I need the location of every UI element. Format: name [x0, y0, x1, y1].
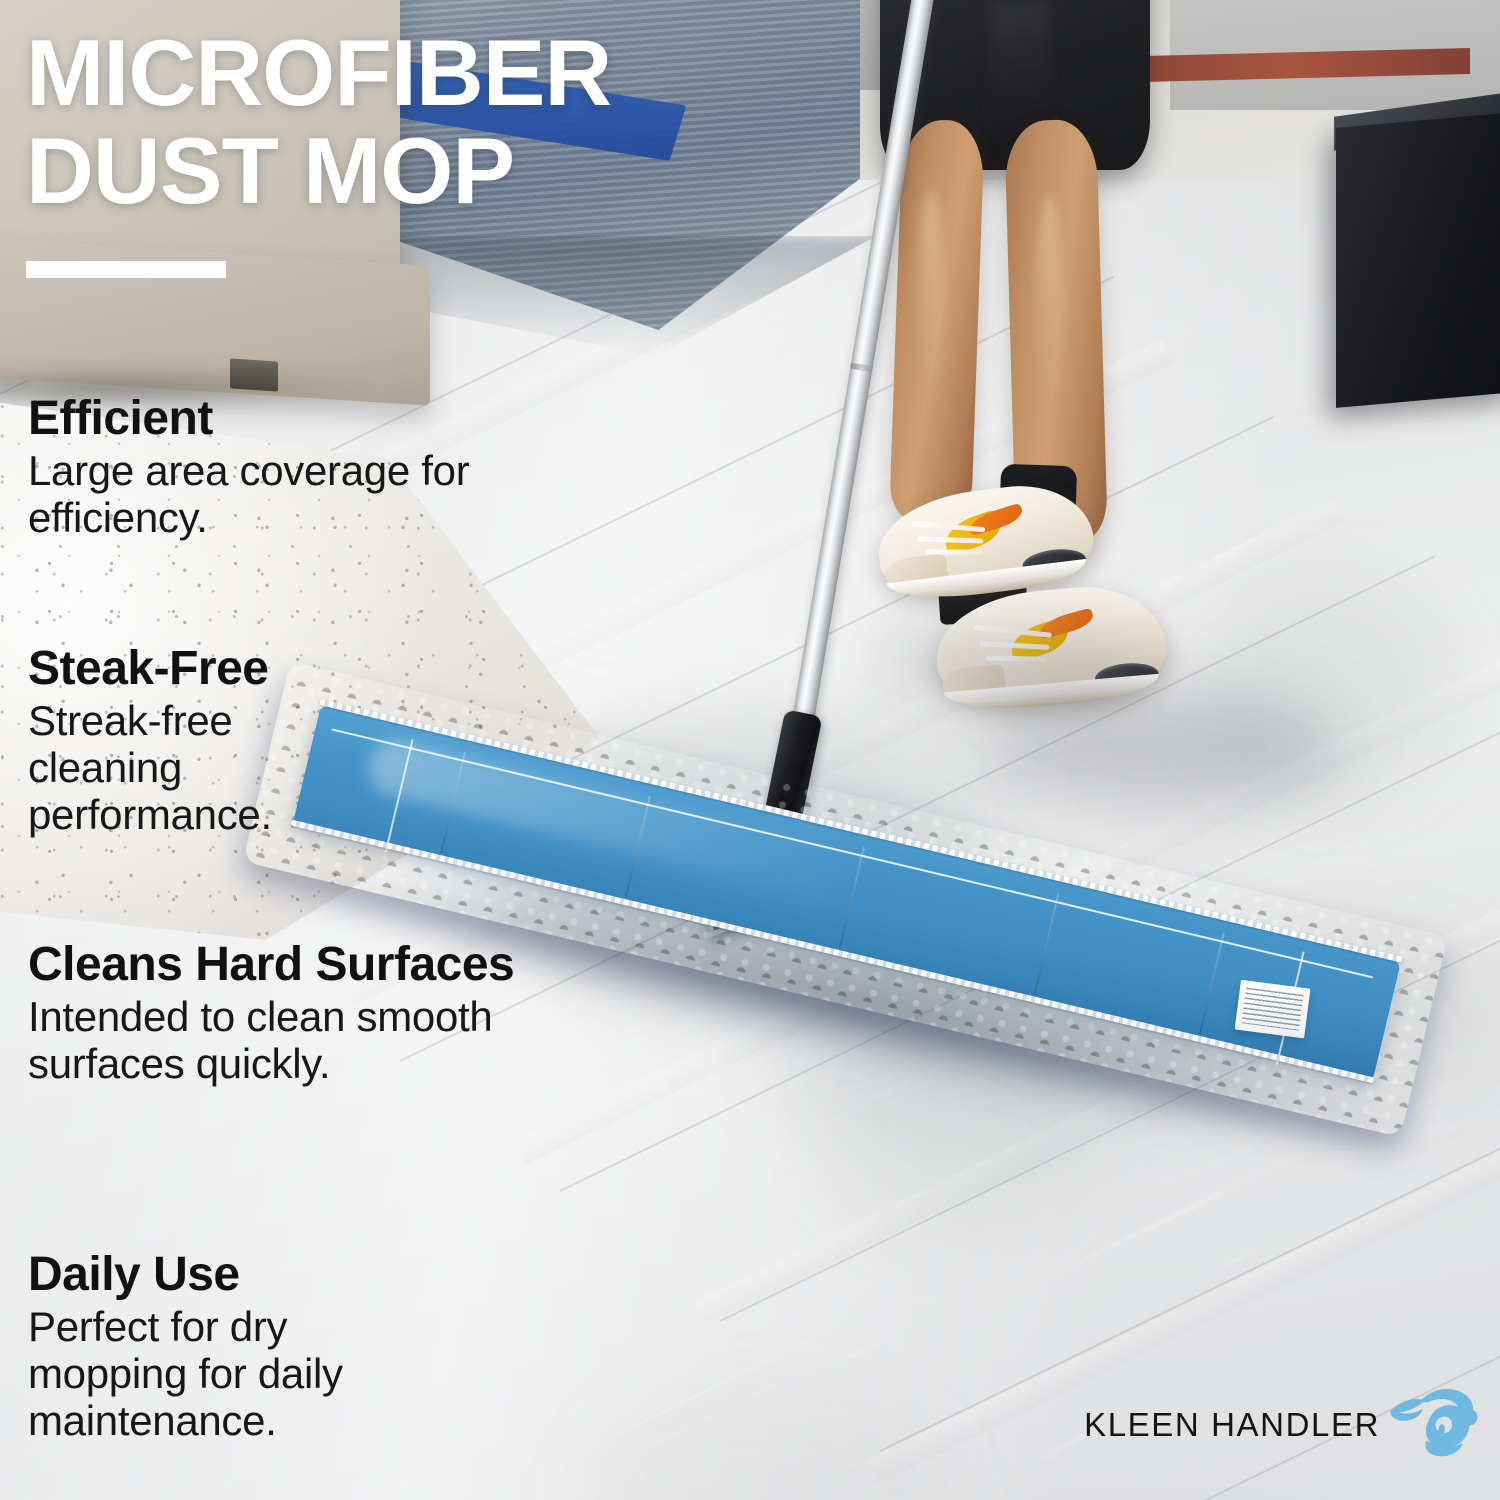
- feature-body: Streak-free cleaning performance.: [28, 697, 358, 838]
- feature-block-efficient: Efficient Large area coverage for effici…: [28, 394, 498, 541]
- brand-logo: KLEEN HANDLER: [1084, 1384, 1478, 1466]
- feature-block-cleans-hard-surfaces: Cleans Hard Surfaces Intended to clean s…: [28, 940, 588, 1087]
- feature-block-daily-use: Daily Use Perfect for dry mopping for da…: [28, 1250, 428, 1444]
- product-infographic: MICROFIBER DUST MOP Efficient Large area…: [0, 0, 1500, 1500]
- mop-handle-pole: [789, 0, 940, 741]
- brand-name: KLEEN HANDLER: [1084, 1406, 1380, 1444]
- feature-body: Perfect for dry mopping for daily mainte…: [28, 1303, 428, 1444]
- care-label-tag: [1235, 980, 1311, 1039]
- feature-heading: Daily Use: [28, 1250, 428, 1301]
- bison-swoosh-icon: [1386, 1384, 1478, 1466]
- page-title: MICROFIBER DUST MOP: [26, 24, 746, 220]
- title-line-2: DUST MOP: [26, 122, 746, 220]
- feature-body: Large area coverage for efficiency.: [28, 447, 498, 541]
- feature-heading: Efficient: [28, 394, 498, 445]
- title-line-1: MICROFIBER: [26, 24, 746, 122]
- title-underline-rule: [26, 261, 226, 278]
- feature-body: Intended to clean smooth surfaces quickl…: [28, 993, 588, 1087]
- feature-heading: Steak-Free: [28, 644, 358, 695]
- feature-block-steak-free: Steak-Free Streak-free cleaning performa…: [28, 644, 358, 838]
- feature-heading: Cleans Hard Surfaces: [28, 940, 588, 991]
